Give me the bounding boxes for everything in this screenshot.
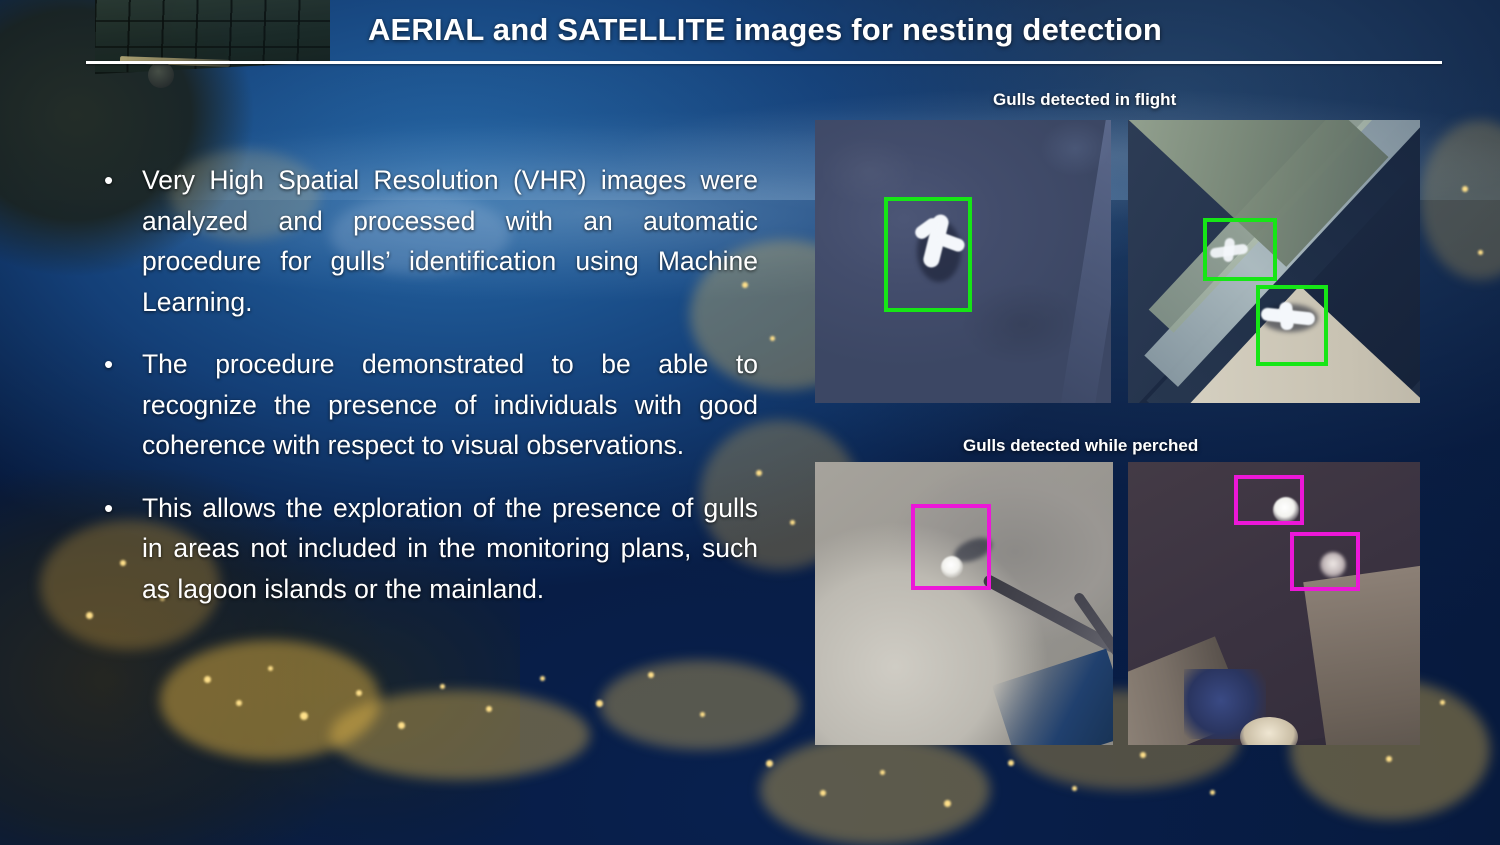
bullet-text: Very High Spatial Resolution (VHR) image… [142, 160, 758, 322]
image-panel-perched-1 [815, 462, 1113, 745]
list-item: • Very High Spatial Resolution (VHR) ima… [98, 160, 758, 322]
bullet-marker-icon: • [98, 160, 142, 200]
detection-box-green [1203, 218, 1277, 281]
caption-gulls-in-flight: Gulls detected in flight [993, 90, 1176, 110]
list-item: • This allows the exploration of the pre… [98, 488, 758, 610]
image-panel-perched-2 [1128, 462, 1420, 745]
panel-a-shoreline [1059, 120, 1111, 403]
image-panel-flight-2 [1128, 120, 1420, 403]
gull-wing-right [936, 232, 967, 254]
detection-box-green [1256, 285, 1328, 366]
gull-wing-left [913, 216, 942, 242]
bullet-text: The procedure demonstrated to be able to… [142, 344, 758, 466]
detection-box-magenta [911, 504, 991, 590]
title-divider [86, 61, 1442, 64]
bullet-text: This allows the exploration of the prese… [142, 488, 758, 610]
page-title: AERIAL and SATELLITE images for nesting … [90, 12, 1440, 48]
gull-shadow [917, 220, 961, 282]
image-panel-flight-1 [815, 120, 1111, 403]
gull-body [922, 213, 951, 269]
bullet-list: • Very High Spatial Resolution (VHR) ima… [98, 160, 758, 631]
detection-box-magenta [1234, 475, 1304, 525]
detection-box-magenta [1290, 532, 1360, 591]
bullet-marker-icon: • [98, 488, 142, 528]
list-item: • The procedure demonstrated to be able … [98, 344, 758, 466]
caption-gulls-perched: Gulls detected while perched [963, 436, 1198, 456]
bullet-marker-icon: • [98, 344, 142, 384]
slide-root: AERIAL and SATELLITE images for nesting … [0, 0, 1500, 845]
detection-box-green [884, 197, 972, 312]
